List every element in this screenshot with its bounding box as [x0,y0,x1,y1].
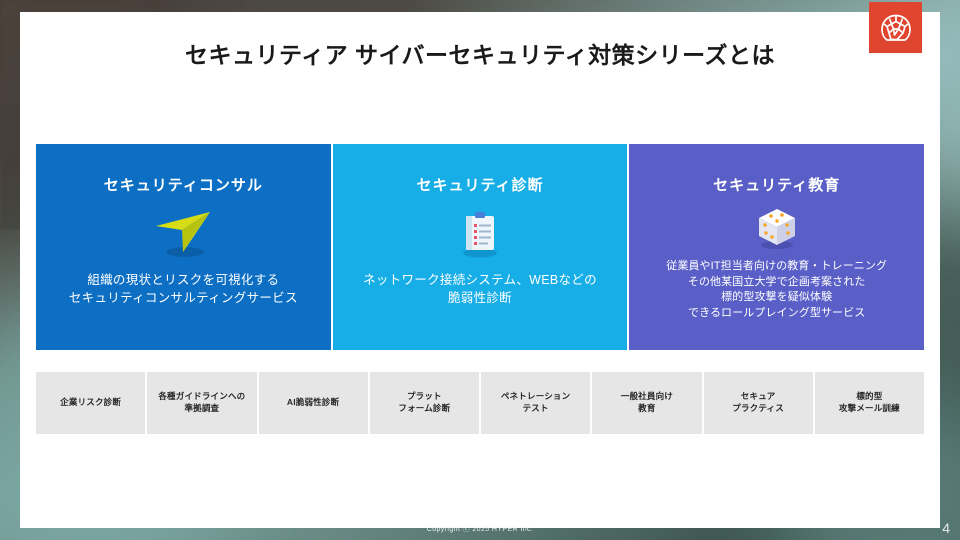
service-chip[interactable]: AI脆弱性診断 [259,372,368,434]
service-columns: セキュリティコンサル 組織の現状とリスクを可視化する セキュリティコンサルティン… [36,144,924,350]
service-chip-line: 準拠調査 [158,403,245,415]
service-column-body: 組織の現状とリスクを可視化する セキュリティコンサルティングサービス [69,271,298,307]
service-chip-line: 教育 [621,403,673,415]
service-chip[interactable]: 一般社員向け 教育 [592,372,701,434]
service-chip[interactable]: 標的型 攻撃メール訓練 [815,372,924,434]
service-column-body-line: 組織の現状とリスクを可視化する [69,271,298,289]
service-column-body-line: 標的型攻撃を疑似体験 [666,290,887,306]
brand-network-logo-icon [869,2,922,53]
service-chip-line: 攻撃メール訓練 [839,403,900,415]
service-column-body-line: できるロールプレイング型サービス [666,306,887,322]
service-chip-line: テスト [501,403,570,415]
service-chip[interactable]: 企業リスク診断 [36,372,145,434]
page-title: セキュリティア サイバーセキュリティ対策シリーズとは [20,36,940,70]
service-column-diagnosis[interactable]: セキュリティ診断 [333,144,628,350]
service-chip-line: AI脆弱性診断 [287,397,339,409]
service-column-body-line: セキュリティコンサルティングサービス [69,289,298,307]
service-chip-line: 企業リスク診断 [60,397,121,409]
service-column-consulting[interactable]: セキュリティコンサル 組織の現状とリスクを可視化する セキュリティコンサルティン… [36,144,331,350]
slide-canvas: セキュリティア サイバーセキュリティ対策シリーズとは セキュリティコンサル 組織… [20,12,940,528]
service-chip-line: 標的型 [839,391,900,403]
service-column-body-line: ネットワーク接続システム、WEBなどの [363,271,597,289]
service-column-heading: セキュリティ教育 [713,174,840,195]
service-chip-line: フォーム診断 [398,403,450,415]
service-chip[interactable]: 各種ガイドラインへの 準拠調査 [147,372,256,434]
service-column-heading: セキュリティ診断 [416,174,543,195]
service-column-education[interactable]: セキュリティ教育 [629,144,924,350]
service-chip-line: 各種ガイドラインへの [158,391,245,403]
service-column-body-line: その他某国立大学で企画考案された [666,275,887,291]
footer-copyright: Copyright ⓒ 2025 HYPER Inc. [0,524,960,534]
service-column-body-line: 従業員やIT担当者向けの教育・トレーニング [666,259,887,275]
service-chip-line: セキュア [732,391,784,403]
service-column-body: ネットワーク接続システム、WEBなどの 脆弱性診断 [363,271,597,307]
service-chip-row: 企業リスク診断 各種ガイドラインへの 準拠調査 AI脆弱性診断 プラット フォー… [36,372,924,434]
service-column-body: 従業員やIT担当者向けの教育・トレーニング その他某国立大学で企画考案された 標… [666,259,887,321]
service-column-heading: セキュリティコンサル [104,174,263,195]
clipboard-checklist-icon [453,207,507,261]
service-chip-line: 一般社員向け [621,391,673,403]
slide-root: セキュリティア サイバーセキュリティ対策シリーズとは セキュリティコンサル 組織… [0,0,960,540]
service-chip-line: プラット [398,391,450,403]
service-chip[interactable]: セキュア プラクティス [704,372,813,434]
service-chip-line: プラクティス [732,403,784,415]
service-chip[interactable]: プラット フォーム診断 [370,372,479,434]
service-chip-line: ペネトレーション [501,391,570,403]
service-column-body-line: 脆弱性診断 [363,289,597,307]
paper-plane-icon [152,207,214,261]
cube-box-icon [751,203,803,253]
service-chip[interactable]: ペネトレーション テスト [481,372,590,434]
page-number: 4 [942,520,950,536]
